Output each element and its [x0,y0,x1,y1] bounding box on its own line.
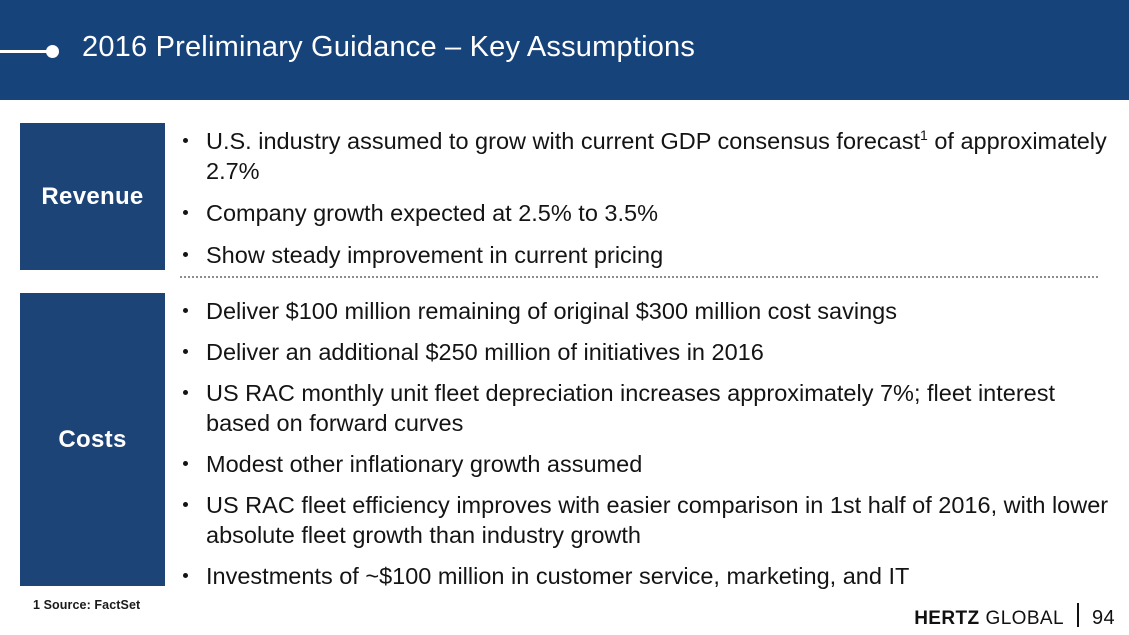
list-item: Modest other inflationary growth assumed [180,449,1110,479]
section-divider [180,276,1098,278]
section-label-revenue-text: Revenue [41,183,143,211]
bullet-dot-icon [183,573,188,578]
brand-name-global: GLOBAL [986,608,1064,630]
list-item: Investments of ~$100 million in customer… [180,561,1110,591]
page-title: 2016 Preliminary Guidance – Key Assumpti… [82,31,695,64]
header-accent-line-icon [0,50,52,53]
bullet-dot-icon [183,349,188,354]
page-number: 94 [1092,607,1115,630]
list-item: Deliver $100 million remaining of origin… [180,296,1110,326]
list-item: US RAC fleet efficiency improves with ea… [180,490,1110,550]
list-item-text: Modest other inflationary growth assumed [206,451,642,477]
footnote-marker: 1 [920,127,928,143]
brand-divider [1077,603,1079,627]
footnote-source: 1 Source: FactSet [33,598,140,612]
bullet-dot-icon [183,502,188,507]
list-item-text: U.S. industry assumed to grow with curre… [206,128,920,154]
section-revenue: Revenue U.S. industry assumed to grow wi… [0,123,1129,270]
section-label-revenue: Revenue [20,123,165,270]
brand-name-hertz: HERTZ [914,608,979,630]
list-item-text: Show steady improvement in current prici… [206,242,663,268]
section-label-costs-text: Costs [58,426,126,454]
bullet-dot-icon [183,210,188,215]
list-item: US RAC monthly unit fleet depreciation i… [180,378,1110,438]
list-item-text: Deliver an additional $250 million of in… [206,339,764,365]
bullet-list-revenue: U.S. industry assumed to grow with curre… [180,126,1110,270]
list-item: Show steady improvement in current prici… [180,240,1110,270]
bullet-dot-icon [183,308,188,313]
list-item: Company growth expected at 2.5% to 3.5% [180,198,1110,228]
list-item: U.S. industry assumed to grow with curre… [180,126,1110,186]
bullet-dot-icon [183,461,188,466]
bullet-list-costs: Deliver $100 million remaining of origin… [180,296,1110,602]
list-item-text: Deliver $100 million remaining of origin… [206,298,897,324]
list-item-text: Investments of ~$100 million in customer… [206,563,909,589]
list-item-text: US RAC fleet efficiency improves with ea… [206,492,1108,548]
bullet-dot-icon [183,138,188,143]
list-item-text: Company growth expected at 2.5% to 3.5% [206,200,658,226]
bullet-dot-icon [183,390,188,395]
section-label-costs: Costs [20,293,165,586]
header-accent-dot-icon [46,45,59,58]
list-item: Deliver an additional $250 million of in… [180,337,1110,367]
list-item-text: US RAC monthly unit fleet depreciation i… [206,380,1055,436]
bullet-dot-icon [183,252,188,257]
brand-logo: HERTZ GLOBAL 94 [914,600,1115,630]
slide-header-bar: 2016 Preliminary Guidance – Key Assumpti… [0,0,1129,100]
section-costs: Costs Deliver $100 million remaining of … [0,293,1129,586]
